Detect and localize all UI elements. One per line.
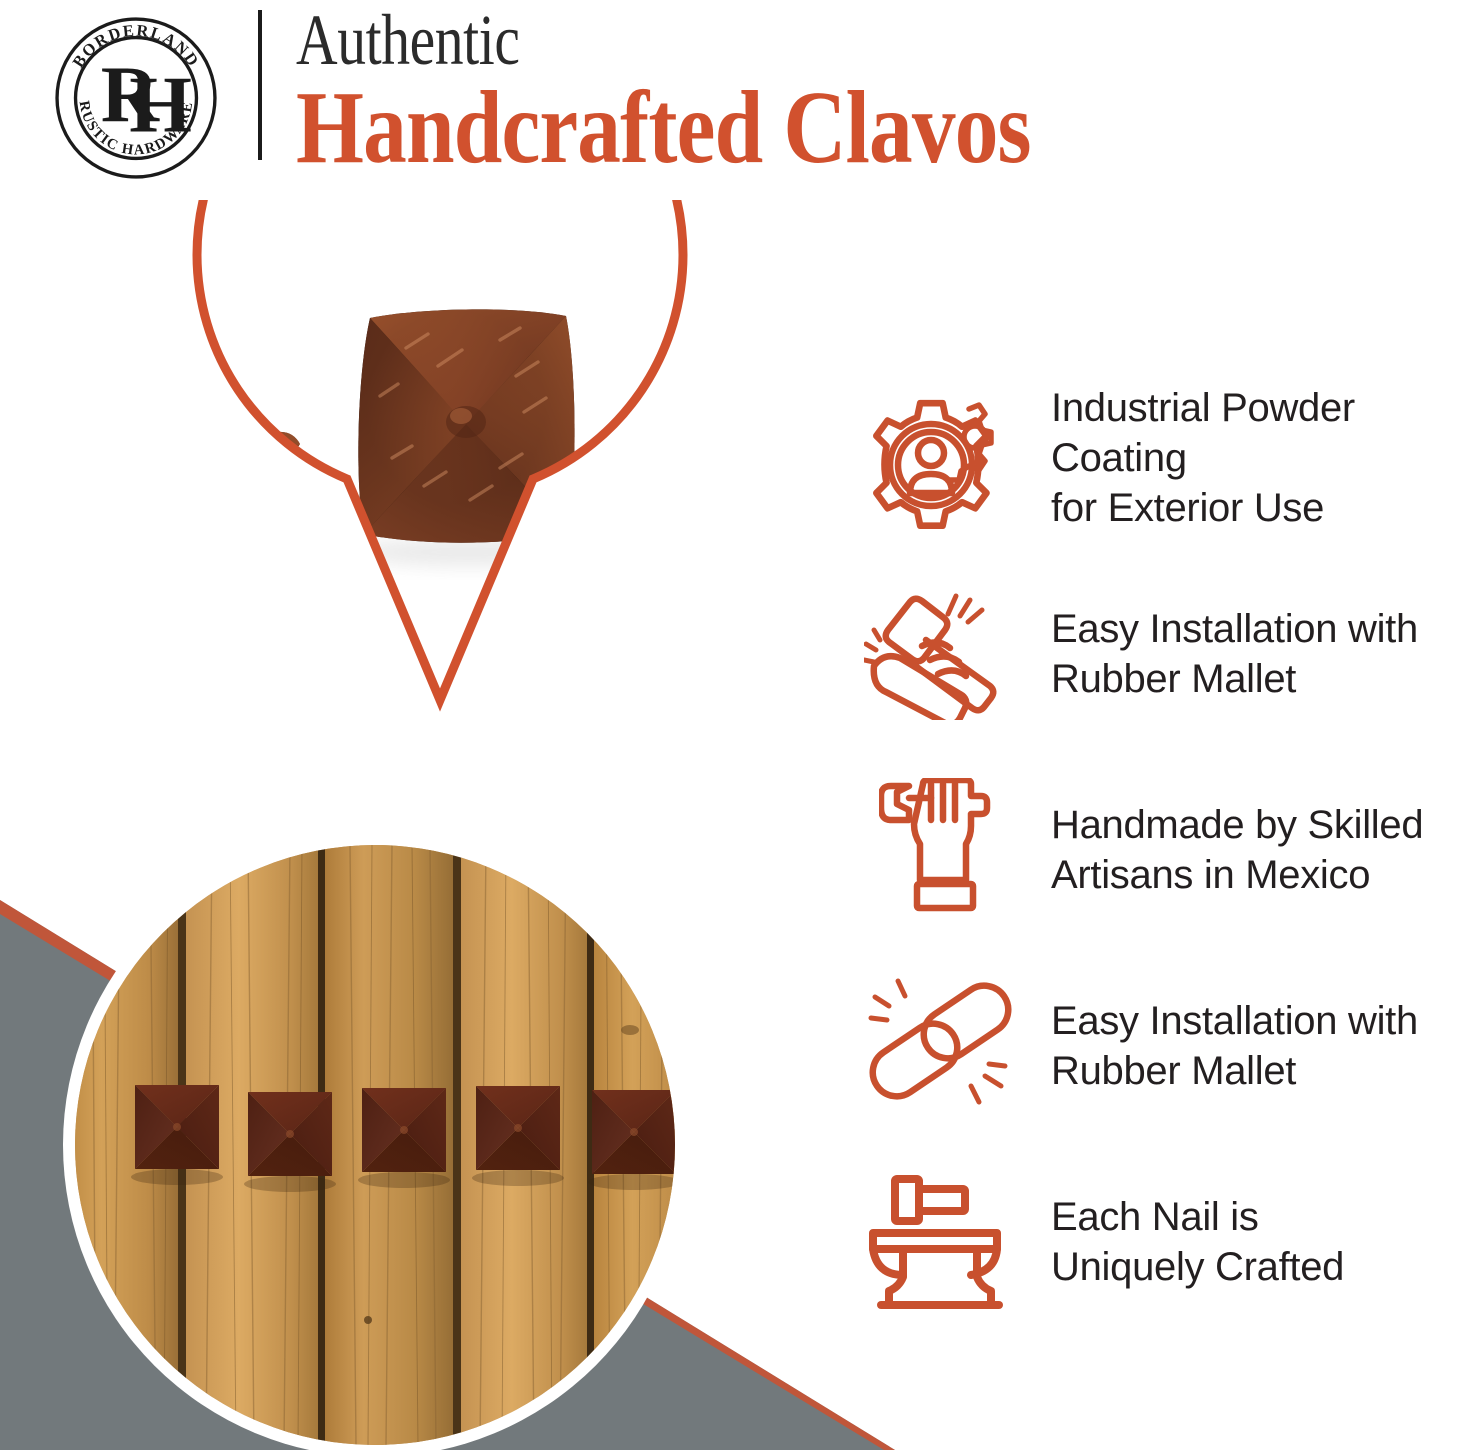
infographic-canvas: BORDERLAND RUSTIC HARDWARE R H Authentic… [0,0,1477,1450]
feature-label: Handmade by Skilled Artisans in Mexico [1025,800,1423,900]
feature-label: Industrial Powder Coating for Exterior U… [1025,383,1477,533]
page-subtitle: Authentic [296,2,1224,78]
clavo-angled [153,432,304,604]
door-photo-circle [60,833,704,1450]
page-header: BORDERLAND RUSTIC HARDWARE R H Authentic… [0,0,1477,200]
hand-mallet-icon [855,579,1025,729]
feature-row: Industrial Powder Coating for Exterior U… [855,360,1477,556]
anvil-hammer-icon [855,1167,1025,1317]
feature-row: Each Nail is Uniquely Crafted [855,1144,1477,1340]
feature-list: Industrial Powder Coating for Exterior U… [855,360,1477,1340]
clavo-face-on [352,309,584,566]
page-title: Handcrafted Clavos [296,74,1270,182]
header-divider [258,10,262,160]
product-pin-marker [153,200,690,708]
brand-logo: BORDERLAND RUSTIC HARDWARE R H [52,14,220,182]
feature-label: Each Nail is Uniquely Crafted [1025,1192,1344,1292]
clavo-closeup-photo [153,200,690,705]
feature-label: Easy Installation with Rubber Mallet [1025,996,1418,1096]
wrench-fist-icon [855,775,1025,925]
logo-monogram-h: H [129,61,192,150]
feature-row: Handmade by Skilled Artisans in Mexico [855,752,1477,948]
product-imagery [0,200,830,1450]
feature-label: Easy Installation with Rubber Mallet [1025,604,1418,704]
title-block: Authentic Handcrafted Clavos [296,2,1456,182]
feature-row: Easy Installation with Rubber Mallet [855,556,1477,752]
gear-person-icon [855,383,1025,533]
chain-link-icon [855,971,1025,1121]
feature-row: Easy Installation with Rubber Mallet [855,948,1477,1144]
